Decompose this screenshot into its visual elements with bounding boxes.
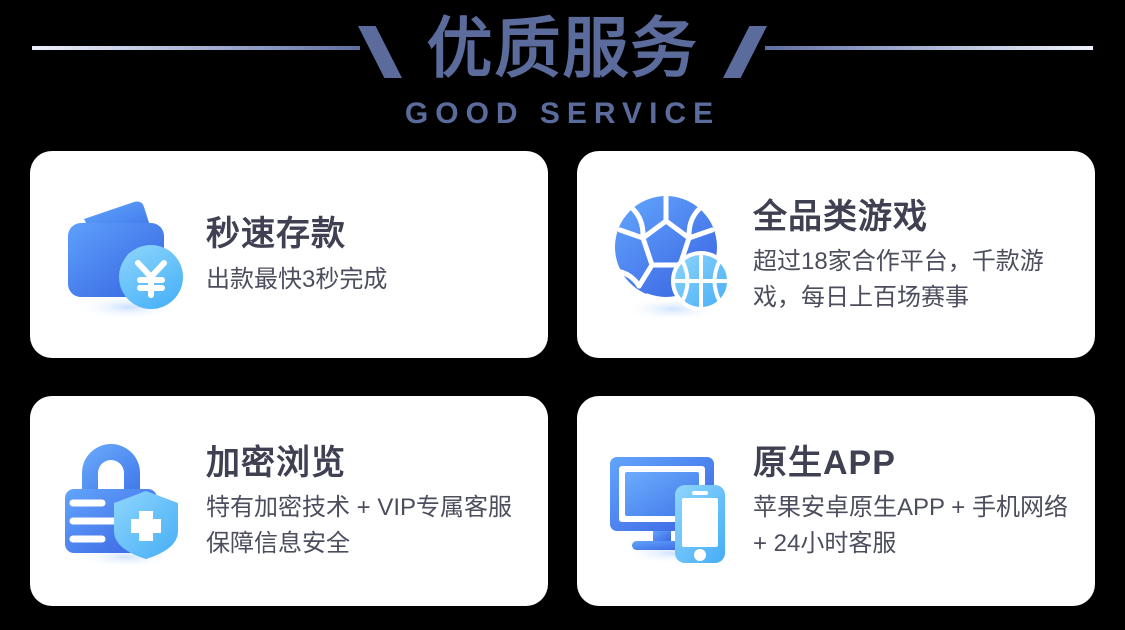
- feature-card-grid: 秒速存款 出款最快3秒完成: [30, 151, 1095, 606]
- feature-card-text: 全品类游戏 超过18家合作平台，千款游戏，每日上百场赛事: [753, 194, 1069, 316]
- feature-card-text: 秒速存款 出款最快3秒完成: [206, 211, 522, 299]
- soccer-basketball-icon: [603, 185, 743, 325]
- banner-header: 优质服务 GOOD SERVICE: [0, 0, 1125, 150]
- lock-shield-icon: [56, 431, 196, 571]
- feature-card-encryption[interactable]: 加密浏览 特有加密技术 + VIP专属客服保障信息安全: [30, 396, 548, 606]
- feature-card-desc: 出款最快3秒完成: [206, 261, 522, 299]
- wallet-yen-icon: [56, 185, 196, 325]
- feature-card-title: 全品类游戏: [753, 194, 1069, 240]
- monitor-phone-icon: [603, 431, 743, 571]
- good-service-banner: 优质服务 GOOD SERVICE: [0, 0, 1125, 630]
- feature-card-desc: 苹果安卓原生APP + 手机网络 + 24小时客服: [753, 490, 1069, 562]
- feature-card-desc: 超过18家合作平台，千款游戏，每日上百场赛事: [753, 244, 1069, 316]
- feature-card-games[interactable]: 全品类游戏 超过18家合作平台，千款游戏，每日上百场赛事: [577, 151, 1095, 358]
- feature-card-desc: 特有加密技术 + VIP专属客服保障信息安全: [206, 490, 522, 562]
- feature-card-text: 加密浏览 特有加密技术 + VIP专属客服保障信息安全: [206, 440, 522, 562]
- feature-card-title: 秒速存款: [206, 211, 522, 257]
- feature-card-text: 原生APP 苹果安卓原生APP + 手机网络 + 24小时客服: [753, 440, 1069, 562]
- feature-card-deposit[interactable]: 秒速存款 出款最快3秒完成: [30, 151, 548, 358]
- feature-card-title: 加密浏览: [206, 440, 522, 486]
- feature-card-native-app[interactable]: 原生APP 苹果安卓原生APP + 手机网络 + 24小时客服: [577, 396, 1095, 606]
- feature-card-title: 原生APP: [753, 440, 1069, 486]
- banner-title-zh: 优质服务: [0, 6, 1125, 90]
- banner-title-en: GOOD SERVICE: [0, 96, 1125, 132]
